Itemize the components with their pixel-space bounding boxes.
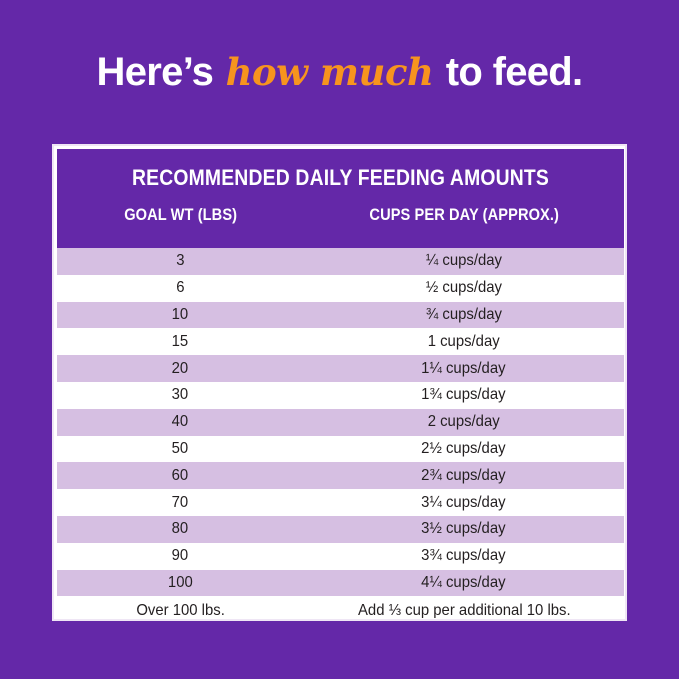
column-header-goal-wt: GOAL WT (LBS) [57, 205, 304, 225]
table-row: 40 2 cups/day [57, 409, 624, 436]
cell-cups-value: 1 cups/day [428, 334, 500, 350]
cell-goal-wt: 50 [57, 441, 304, 457]
cell-goal-wt: 15 [57, 334, 304, 350]
cell-cups: 3¼ cups/day [304, 495, 624, 511]
column-header-cups-per-day: CUPS PER DAY (APPROX.) [304, 205, 624, 225]
table-title: RECOMMENDED DAILY FEEDING AMOUNTS [91, 165, 590, 191]
table-row: 15 1 cups/day [57, 328, 624, 355]
cell-cups: 1 cups/day [304, 334, 624, 350]
table-row: 10 ¾ cups/day [57, 302, 624, 329]
cell-cups: 4¼ cups/day [304, 575, 624, 591]
cell-goal-wt: 6 [57, 280, 304, 296]
cell-goal-wt-value: 80 [172, 521, 189, 537]
headline-part-1: Here’s [97, 50, 224, 94]
table-body: 3 ¼ cups/day 6 ½ cups/day 10 ¾ cups/day … [57, 248, 624, 618]
table-row: 50 2½ cups/day [57, 436, 624, 463]
cell-cups: 3¾ cups/day [304, 548, 624, 564]
cell-cups-value: 2½ cups/day [422, 441, 506, 457]
cell-cups-value: 2¾ cups/day [422, 468, 506, 484]
cell-cups: Add ⅓ cup per additional 10 lbs. [304, 603, 624, 618]
cell-goal-wt: 3 [57, 253, 304, 269]
table-row: 60 2¾ cups/day [57, 462, 624, 489]
cell-cups-value: Add ⅓ cup per additional 10 lbs. [358, 603, 571, 618]
cell-cups: 2¾ cups/day [304, 468, 624, 484]
cell-goal-wt: 10 [57, 307, 304, 323]
cell-goal-wt-value: 15 [172, 334, 189, 350]
cell-cups: 1¼ cups/day [304, 361, 624, 377]
cell-cups: ½ cups/day [304, 280, 624, 296]
cell-cups-value: 1¾ cups/day [422, 387, 506, 403]
cell-goal-wt: 20 [57, 361, 304, 377]
feeding-chart-page: Here’s how much to feed. RECOMMENDED DAI… [0, 0, 679, 679]
table-row: 90 3¾ cups/day [57, 543, 624, 570]
cell-cups: 1¾ cups/day [304, 387, 624, 403]
cell-cups: 2 cups/day [304, 414, 624, 430]
cell-cups-value: 3¾ cups/day [422, 548, 506, 564]
table-header-band: RECOMMENDED DAILY FEEDING AMOUNTS GOAL W… [57, 149, 624, 248]
cell-cups-value: 3¼ cups/day [422, 495, 506, 511]
cell-goal-wt-value: 100 [168, 575, 193, 591]
cell-goal-wt-value: 40 [172, 414, 189, 430]
cell-goal-wt: 100 [57, 575, 304, 591]
cell-cups-value: ½ cups/day [426, 280, 502, 296]
table-inner: RECOMMENDED DAILY FEEDING AMOUNTS GOAL W… [57, 149, 624, 618]
cell-goal-wt: 60 [57, 468, 304, 484]
cell-goal-wt-value: 70 [172, 495, 189, 511]
cell-goal-wt-value: 10 [172, 307, 189, 323]
feeding-amounts-table: RECOMMENDED DAILY FEEDING AMOUNTS GOAL W… [52, 144, 627, 621]
table-row: 3 ¼ cups/day [57, 248, 624, 275]
cell-goal-wt: 90 [57, 548, 304, 564]
cell-goal-wt-value: Over 100 lbs. [136, 603, 224, 618]
table-row: 100 4¼ cups/day [57, 570, 624, 597]
cell-cups: ¼ cups/day [304, 253, 624, 269]
table-row-overflow: Over 100 lbs. Add ⅓ cup per additional 1… [57, 596, 624, 618]
table-row: 30 1¾ cups/day [57, 382, 624, 409]
cell-goal-wt-value: 30 [172, 387, 189, 403]
headline-accent: how much [224, 50, 436, 94]
cell-cups: 3½ cups/day [304, 521, 624, 537]
column-header-cups-per-day-label: CUPS PER DAY (APPROX.) [369, 205, 559, 225]
cell-goal-wt: 70 [57, 495, 304, 511]
cell-cups-value: 3½ cups/day [422, 521, 506, 537]
cell-goal-wt-value: 20 [172, 361, 189, 377]
cell-cups: ¾ cups/day [304, 307, 624, 323]
cell-goal-wt-value: 60 [172, 468, 189, 484]
table-row: 20 1¼ cups/day [57, 355, 624, 382]
cell-goal-wt-value: 90 [172, 548, 189, 564]
table-row: 80 3½ cups/day [57, 516, 624, 543]
table-column-headers: GOAL WT (LBS) CUPS PER DAY (APPROX.) [57, 205, 624, 225]
cell-cups-value: 1¼ cups/day [422, 361, 506, 377]
cell-cups: 2½ cups/day [304, 441, 624, 457]
cell-goal-wt: 40 [57, 414, 304, 430]
cell-goal-wt-value: 6 [176, 280, 184, 296]
table-row: 6 ½ cups/day [57, 275, 624, 302]
cell-goal-wt-value: 3 [176, 253, 184, 269]
cell-goal-wt: 30 [57, 387, 304, 403]
cell-cups-value: 2 cups/day [428, 414, 500, 430]
cell-cups-value: 4¼ cups/day [422, 575, 506, 591]
headline-part-2: to feed. [435, 50, 582, 94]
cell-cups-value: ¾ cups/day [426, 307, 502, 323]
table-row: 70 3¼ cups/day [57, 489, 624, 516]
page-headline: Here’s how much to feed. [0, 48, 679, 96]
column-header-goal-wt-label: GOAL WT (LBS) [124, 205, 237, 225]
cell-goal-wt: Over 100 lbs. [57, 603, 304, 618]
cell-goal-wt-value: 50 [172, 441, 189, 457]
cell-goal-wt: 80 [57, 521, 304, 537]
cell-cups-value: ¼ cups/day [426, 253, 502, 269]
